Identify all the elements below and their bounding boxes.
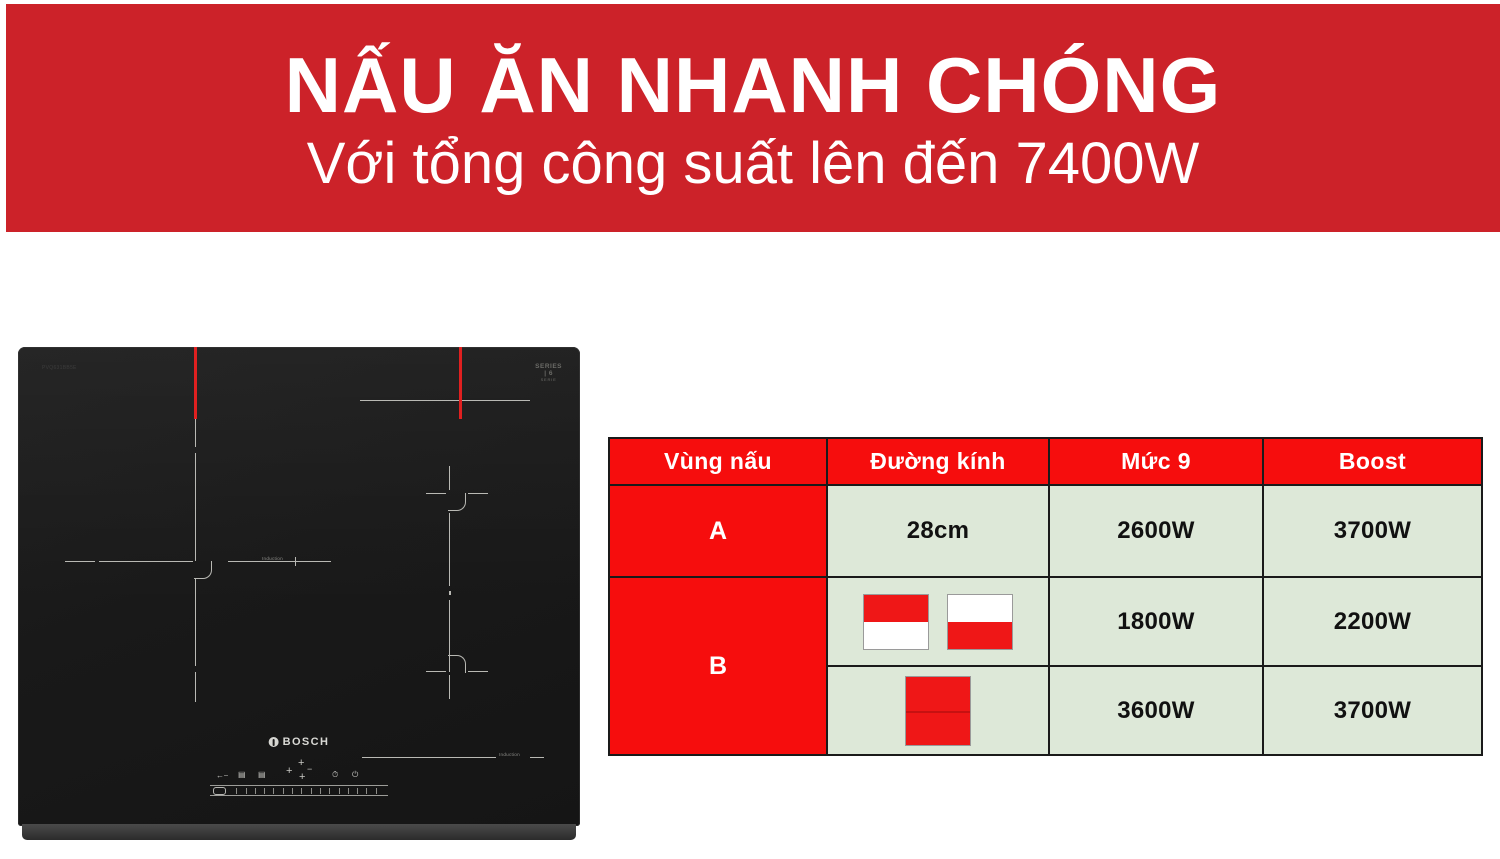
level9-value-b2: 3600W bbox=[1049, 666, 1263, 755]
boost-value-b1: 2200W bbox=[1263, 577, 1482, 666]
table-row: B 1800W 2200W bbox=[609, 577, 1482, 666]
zone-label-b: B bbox=[609, 577, 827, 755]
slider-tick[interactable] bbox=[304, 788, 311, 794]
slider-onoff-icon[interactable] bbox=[213, 787, 226, 795]
diameter-value-a: 28cm bbox=[827, 485, 1049, 577]
slider-tick[interactable] bbox=[360, 788, 367, 794]
zone-b-corner-top-left bbox=[448, 493, 466, 511]
zone-mark-top-right bbox=[360, 400, 530, 401]
slider-tick[interactable] bbox=[249, 788, 256, 794]
zone-a-tick-right bbox=[295, 557, 296, 566]
cooktop-glass-surface: PVQ631BB5E SERIES | 6 SERIE Induction bbox=[18, 347, 580, 826]
slider-tick[interactable] bbox=[230, 788, 237, 794]
zone-a-mark-left-2 bbox=[99, 561, 193, 562]
zone-a-mark-bottom-2 bbox=[195, 672, 196, 702]
spec-table-container: ITCHEN RY APPLIANCES Vùng nấu Đường kính… bbox=[608, 437, 1465, 750]
series-badge-sub: SERIE bbox=[535, 378, 562, 383]
bosch-mark-icon bbox=[269, 737, 279, 747]
red-zone-marker-left bbox=[194, 347, 197, 419]
promo-subline: Với tổng công suất lên đến 7400W bbox=[307, 132, 1200, 197]
slider-tick[interactable] bbox=[351, 788, 358, 794]
zone-label-a: A bbox=[609, 485, 827, 577]
zone-a-mark-bottom-1 bbox=[195, 578, 196, 666]
zone-icon-upper-segment bbox=[864, 595, 928, 622]
boost-value-a: 3700W bbox=[1263, 485, 1482, 577]
red-zone-marker-right bbox=[459, 347, 462, 419]
control-icon-row[interactable]: ←⎯ ▤ ▤ + + − + ⏱ ⏻ bbox=[210, 751, 388, 785]
header-vung-nau: Vùng nấu bbox=[609, 438, 827, 485]
slider-tick[interactable] bbox=[342, 788, 349, 794]
series-badge-name: SERIES bbox=[535, 363, 562, 370]
slider-tick[interactable] bbox=[323, 788, 330, 794]
zone-b-mark-bottom-right bbox=[468, 671, 488, 672]
zone-a-mark-right-3 bbox=[301, 561, 331, 562]
series-badge: SERIES | 6 SERIE bbox=[535, 363, 562, 383]
level9-value-a: 2600W bbox=[1049, 485, 1263, 577]
slider-tick[interactable] bbox=[369, 788, 376, 794]
slider-tick[interactable] bbox=[239, 788, 246, 794]
slider-tick[interactable] bbox=[332, 788, 339, 794]
zone-b-mark-bottom bbox=[449, 675, 450, 699]
zone-b-mark-mid-1 bbox=[449, 513, 450, 586]
zone-icon-top-half-active bbox=[863, 594, 929, 650]
plus-icon[interactable]: + bbox=[299, 771, 305, 783]
header-muc-9: Mức 9 bbox=[1049, 438, 1263, 485]
header-boost: Boost bbox=[1263, 438, 1482, 485]
zone-a-mark-top-2 bbox=[195, 453, 196, 561]
zone-b-mark-top-right bbox=[468, 493, 488, 494]
plus-top-icon[interactable]: + bbox=[298, 757, 304, 769]
cooktop-product-image: PVQ631BB5E SERIES | 6 SERIE Induction bbox=[18, 347, 580, 840]
zone-c-mark-2 bbox=[530, 757, 544, 758]
zone-icon-full-active bbox=[905, 676, 971, 746]
half-zone-icon-group bbox=[829, 594, 1047, 650]
model-code-label: PVQ631BB5E bbox=[42, 365, 77, 371]
diameter-diagram-b2 bbox=[827, 666, 1049, 755]
power-spec-table: Vùng nấu Đường kính Mức 9 Boost A 28cm 2… bbox=[608, 437, 1483, 756]
minus-icon[interactable]: − bbox=[307, 764, 312, 774]
slider-tick[interactable] bbox=[267, 788, 274, 794]
slider-tick[interactable] bbox=[295, 788, 302, 794]
slider-tick[interactable] bbox=[286, 788, 293, 794]
power-boost-icon[interactable]: + bbox=[286, 765, 292, 777]
header-duong-kinh: Đường kính bbox=[827, 438, 1049, 485]
zone-b-corner-bottom-left bbox=[448, 655, 466, 673]
power-icon[interactable]: ⏻ bbox=[352, 770, 358, 780]
promo-banner: NẤU ĂN NHANH CHÓNG Với tổng công suất lê… bbox=[6, 4, 1500, 232]
zone-icon-lower-segment bbox=[864, 622, 928, 649]
power-level-slider[interactable] bbox=[210, 785, 388, 796]
zone-a-mark-top-1 bbox=[195, 419, 196, 447]
zone-a-induction-label: Induction bbox=[262, 556, 283, 561]
zone-b-mark-center-tick bbox=[449, 591, 451, 595]
zone-icon-upper-segment bbox=[948, 595, 1012, 622]
cooktop-front-edge bbox=[22, 824, 576, 840]
boost-value-b2: 3700W bbox=[1263, 666, 1482, 755]
zone-c-induction-label: Induction bbox=[499, 752, 520, 757]
control-panel[interactable]: ←⎯ ▤ ▤ + + − + ⏱ ⏻ bbox=[210, 751, 388, 796]
slider-tick[interactable] bbox=[314, 788, 321, 794]
level9-value-b1: 1800W bbox=[1049, 577, 1263, 666]
zone-a-mark-left-1 bbox=[65, 561, 95, 562]
table-row: A 28cm 2600W 3700W bbox=[609, 485, 1482, 577]
bosch-wordmark: BOSCH bbox=[283, 736, 330, 748]
zone-icon-bottom-half-active bbox=[947, 594, 1013, 650]
zone-icon-lower-segment bbox=[948, 622, 1012, 649]
keep-warm-2-icon[interactable]: ▤ bbox=[258, 770, 266, 779]
diameter-diagram-b1 bbox=[827, 577, 1049, 666]
promo-headline: NẤU ĂN NHANH CHÓNG bbox=[285, 45, 1222, 126]
slider-tick[interactable] bbox=[379, 788, 385, 794]
slider-tick[interactable] bbox=[258, 788, 265, 794]
child-lock-icon[interactable]: ←⎯ bbox=[216, 771, 228, 781]
zone-b-mark-bottom-left bbox=[426, 671, 446, 672]
timer-icon[interactable]: ⏱ bbox=[332, 770, 338, 780]
slider-tick[interactable] bbox=[276, 788, 283, 794]
keep-warm-icon[interactable]: ▤ bbox=[238, 770, 246, 779]
full-zone-icon-group bbox=[829, 676, 1047, 746]
zone-b-mark-top bbox=[449, 466, 450, 490]
zone-a-corner bbox=[194, 561, 212, 579]
zone-b-mark-top-left bbox=[426, 493, 446, 494]
table-header-row: Vùng nấu Đường kính Mức 9 Boost bbox=[609, 438, 1482, 485]
bosch-logo: BOSCH bbox=[269, 736, 330, 748]
glass-gloss-overlay bbox=[18, 347, 580, 610]
